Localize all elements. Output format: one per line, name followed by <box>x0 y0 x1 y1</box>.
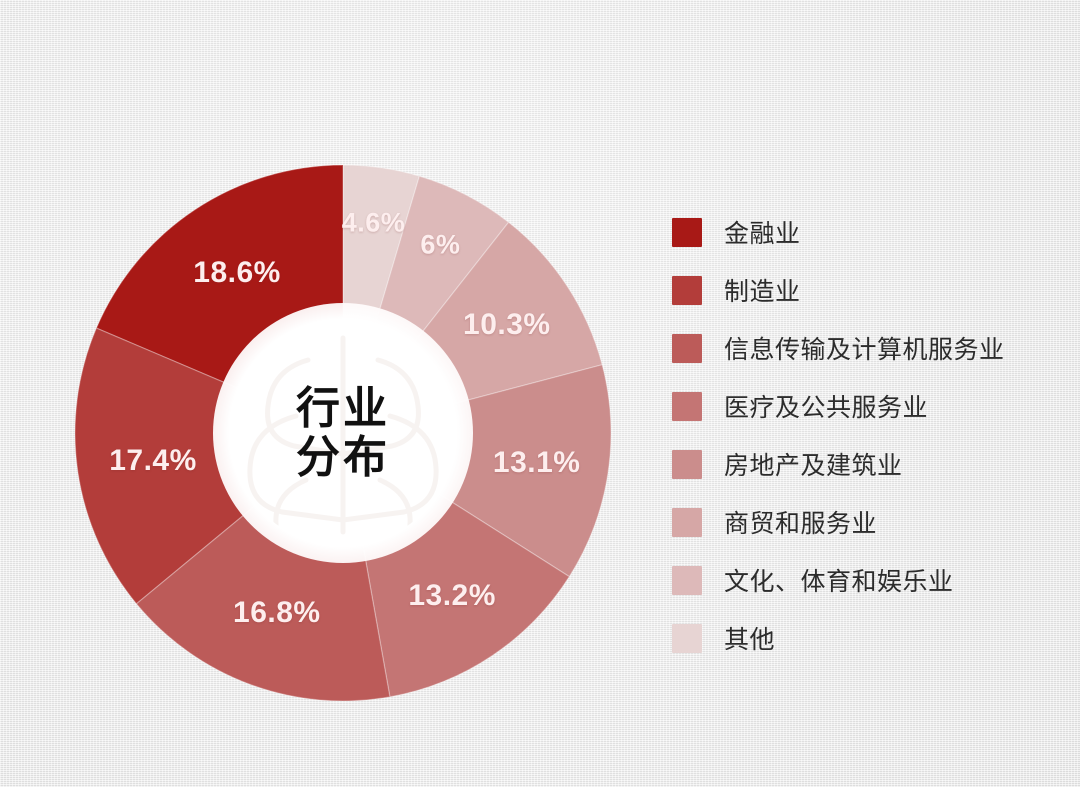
legend-swatch-0 <box>672 218 702 247</box>
donut-center-hole <box>230 320 456 546</box>
legend-label-3: 医疗及公共服务业 <box>724 388 928 424</box>
legend-swatch-7 <box>672 624 702 653</box>
decorative-watermark-icon <box>230 320 456 546</box>
legend-swatch-5 <box>672 508 702 537</box>
legend-item-7[interactable]: 其他 <box>672 609 1062 667</box>
legend-item-0[interactable]: 金融业 <box>672 203 1062 261</box>
donut-wrapper: 行业 分布 4.6%6%10.3%13.1%13.2%18.6%17.4%16.… <box>68 158 618 708</box>
legend-swatch-3 <box>672 392 702 421</box>
legend-swatch-6 <box>672 566 702 595</box>
legend-item-4[interactable]: 房地产及建筑业 <box>672 435 1062 493</box>
legend-label-7: 其他 <box>724 620 775 656</box>
legend-item-2[interactable]: 信息传输及计算机服务业 <box>672 319 1062 377</box>
legend-label-0: 金融业 <box>724 214 801 250</box>
chart-page: 行业 分布 4.6%6%10.3%13.1%13.2%18.6%17.4%16.… <box>0 0 1080 787</box>
legend-item-5[interactable]: 商贸和服务业 <box>672 493 1062 551</box>
legend-swatch-2 <box>672 334 702 363</box>
legend-swatch-1 <box>672 276 702 305</box>
legend-label-2: 信息传输及计算机服务业 <box>724 330 1005 366</box>
legend-label-1: 制造业 <box>724 272 801 308</box>
legend-label-6: 文化、体育和娱乐业 <box>724 562 954 598</box>
legend-label-5: 商贸和服务业 <box>724 504 877 540</box>
donut-chart: 行业 分布 4.6%6%10.3%13.1%13.2%18.6%17.4%16.… <box>68 158 618 708</box>
legend-item-6[interactable]: 文化、体育和娱乐业 <box>672 551 1062 609</box>
legend-item-3[interactable]: 医疗及公共服务业 <box>672 377 1062 435</box>
legend-label-4: 房地产及建筑业 <box>724 446 903 482</box>
chart-legend: 金融业 制造业 信息传输及计算机服务业 医疗及公共服务业 房地产及建筑业 商贸和… <box>672 203 1062 667</box>
legend-swatch-4 <box>672 450 702 479</box>
legend-item-1[interactable]: 制造业 <box>672 261 1062 319</box>
